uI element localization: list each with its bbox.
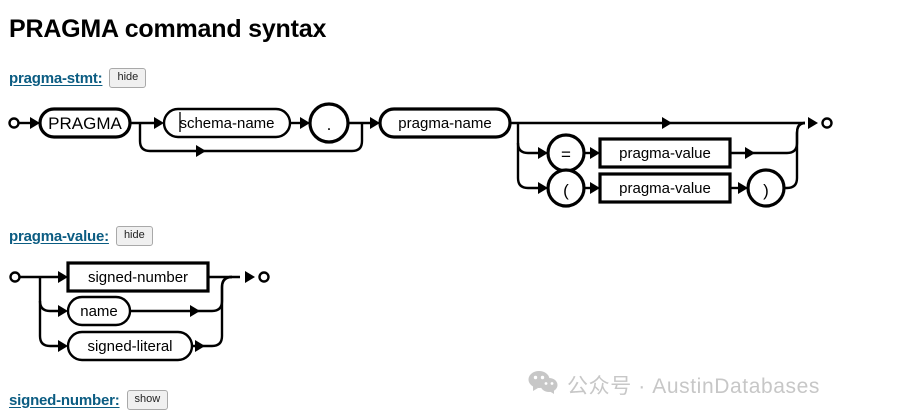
- arrow-schema-bypass: [196, 145, 206, 157]
- node-signed-number-label: signed-number: [88, 269, 188, 286]
- node-equals-label: =: [561, 145, 571, 164]
- railroad-diagram-pragma-stmt: PRAGMA schema-name . pragma-name: [0, 100, 899, 210]
- rule-link-pragma-value[interactable]: pragma-value:: [9, 228, 109, 245]
- rule-header-pragma-value: pragma-value: hide: [9, 226, 153, 246]
- arrow-main-bypass: [662, 117, 672, 129]
- node-rparen-label: ): [763, 181, 769, 200]
- node-pragma-name-label: pragma-name: [398, 115, 491, 132]
- rule-header-pragma-stmt: pragma-stmt: hide: [9, 68, 146, 88]
- toggle-button-pragma-stmt[interactable]: hide: [109, 68, 146, 88]
- node-pragma-keyword-label: PRAGMA: [48, 114, 122, 133]
- rule-link-signed-number[interactable]: signed-number:: [9, 392, 120, 409]
- track-split-to-equals: [518, 123, 538, 153]
- diagram2-end-terminal: [260, 273, 269, 282]
- diagram2-start-terminal: [11, 273, 20, 282]
- node-schema-name-label: schema-name: [179, 115, 274, 132]
- rule-header-signed-number: signed-number: show: [9, 390, 168, 410]
- track2-split-to-name: [40, 277, 58, 311]
- arrow-to-end-terminal-2: [245, 271, 255, 283]
- arrow-into-schema-name: [154, 117, 164, 129]
- node-pragma-value-eq-label: pragma-value: [619, 145, 711, 162]
- node-dot-label: .: [327, 115, 332, 134]
- toggle-button-signed-number[interactable]: show: [127, 390, 169, 410]
- arrow-eq-value-merge: [745, 147, 755, 159]
- arrow-signed-literal-merge: [195, 340, 205, 352]
- arrow-name-merge: [190, 305, 200, 317]
- node-name-label: name: [80, 303, 118, 320]
- track-eq-value-merge: [730, 123, 805, 153]
- diagram-start-terminal: [10, 119, 19, 128]
- track-rparen-merge: [784, 123, 805, 188]
- node-pragma-value-paren-label: pragma-value: [619, 180, 711, 197]
- railroad-diagram-pragma-value: signed-number name signed-literal: [0, 258, 400, 378]
- node-lparen-label: (: [563, 181, 569, 200]
- arrow-into-signed-literal: [58, 340, 68, 352]
- arrow-into-name: [58, 305, 68, 317]
- wechat-icon: [528, 370, 558, 400]
- rule-link-pragma-stmt[interactable]: pragma-stmt:: [9, 70, 102, 87]
- diagram-end-terminal: [823, 119, 832, 128]
- node-signed-literal-label: signed-literal: [87, 338, 172, 355]
- arrow-to-end-terminal: [808, 117, 818, 129]
- toggle-button-pragma-value[interactable]: hide: [116, 226, 153, 246]
- watermark-text: 公众号 · AustinDatabases: [567, 370, 820, 400]
- watermark: 公众号 · AustinDatabases: [528, 370, 820, 400]
- page-title: PRAGMA command syntax: [9, 14, 326, 44]
